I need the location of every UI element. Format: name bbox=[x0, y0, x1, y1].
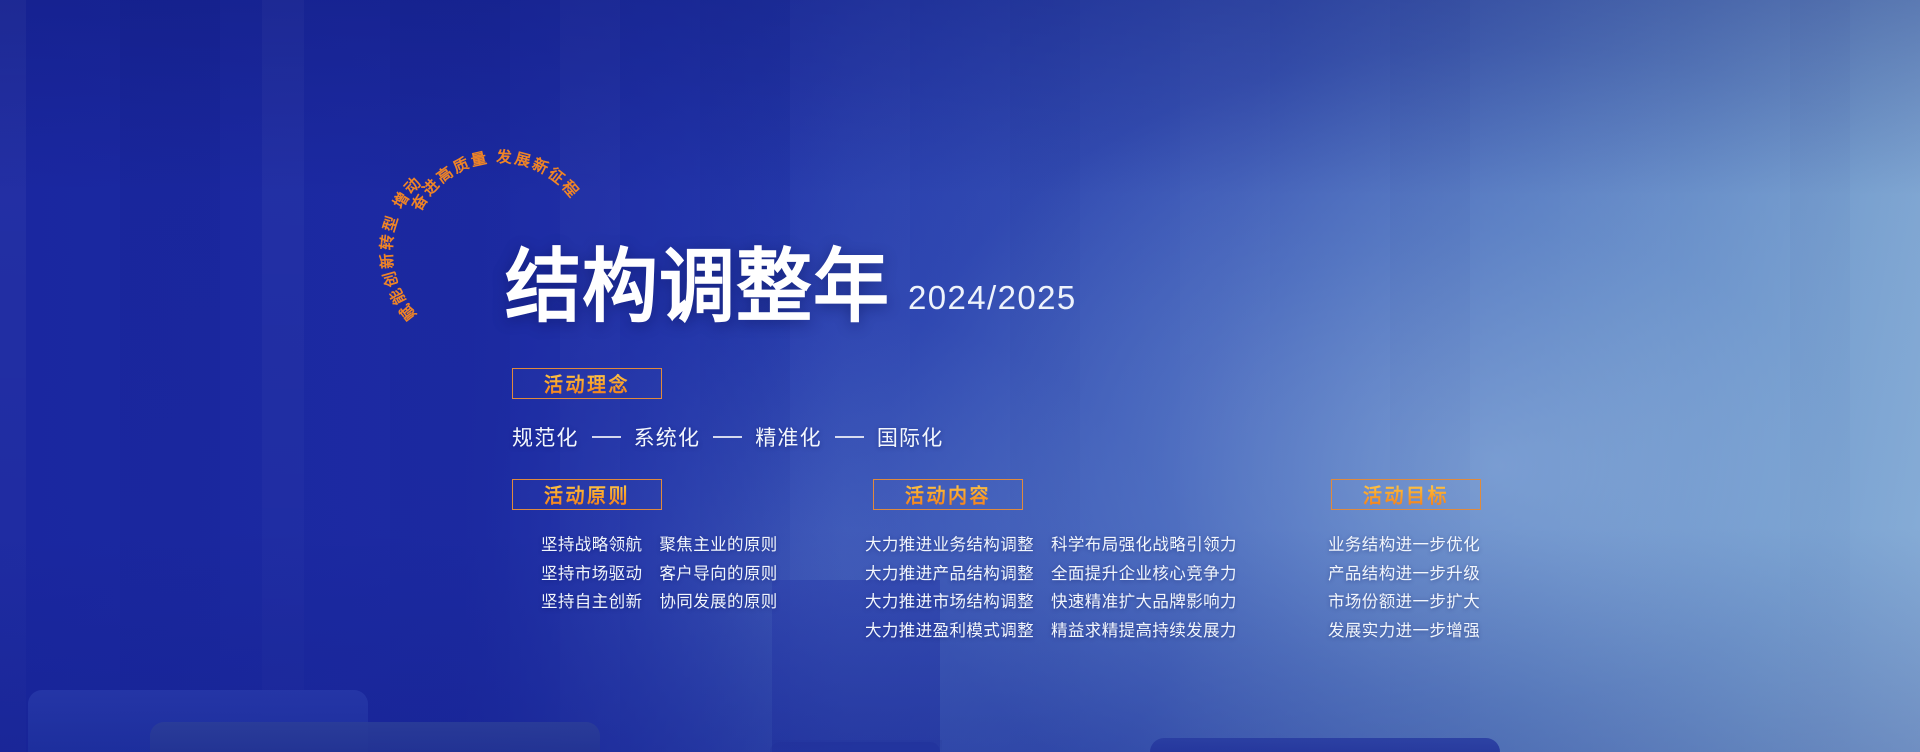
list-item: 发展实力进一步增强 bbox=[1328, 623, 1480, 640]
row-left: 大力推进盈利模式调整 bbox=[865, 623, 1034, 640]
list-item: 坚持战略领航 聚焦主业的原则 bbox=[541, 537, 778, 554]
row-left: 大力推进产品结构调整 bbox=[865, 566, 1034, 583]
column-contents: 大力推进业务结构调整 科学布局强化战略引领力 大力推进产品结构调整 全面提升企业… bbox=[865, 537, 1237, 651]
badge-label: 活动目标 bbox=[1363, 480, 1449, 508]
row-right: 快速精准扩大品牌影响力 bbox=[1051, 594, 1237, 611]
page-title: 结构调整年 bbox=[505, 248, 890, 326]
row-right: 精益求精提高持续发展力 bbox=[1051, 623, 1237, 640]
title-row: 结构调整年 2024/2025 bbox=[505, 252, 1077, 326]
badge-activity-principles: 活动原则 bbox=[512, 479, 662, 510]
title-year: 2024/2025 bbox=[908, 279, 1077, 326]
row-left: 坚持战略领航 bbox=[541, 537, 642, 554]
concept-separator-icon bbox=[592, 436, 621, 438]
badge-label: 活动原则 bbox=[544, 480, 630, 508]
list-item: 市场份额进一步扩大 bbox=[1328, 594, 1480, 611]
row-left: 发展实力进一步增强 bbox=[1328, 623, 1480, 640]
row-left: 业务结构进一步优化 bbox=[1328, 537, 1480, 554]
list-item: 大力推进业务结构调整 科学布局强化战略引领力 bbox=[865, 537, 1237, 554]
badge-activity-concept: 活动理念 bbox=[512, 368, 662, 399]
list-item: 大力推进市场结构调整 快速精准扩大品牌影响力 bbox=[865, 594, 1237, 611]
row-right: 客户导向的原则 bbox=[659, 566, 777, 583]
concept-keyword-list: 规范化 系统化 精准化 国际化 bbox=[512, 422, 943, 452]
concept-item-0: 规范化 bbox=[512, 422, 579, 452]
concept-item-2: 精准化 bbox=[755, 422, 822, 452]
ring-bottom-text: 赋能创新转型 增动能 bbox=[377, 113, 426, 324]
row-right: 全面提升企业核心竞争力 bbox=[1051, 566, 1237, 583]
list-item: 产品结构进一步升级 bbox=[1328, 566, 1480, 583]
list-item: 业务结构进一步优化 bbox=[1328, 537, 1480, 554]
row-right: 聚焦主业的原则 bbox=[659, 537, 777, 554]
list-item: 大力推进盈利模式调整 精益求精提高持续发展力 bbox=[865, 623, 1237, 640]
row-right: 科学布局强化战略引领力 bbox=[1051, 537, 1237, 554]
badge-label: 活动内容 bbox=[905, 480, 991, 508]
row-left: 市场份额进一步扩大 bbox=[1328, 594, 1480, 611]
row-left: 大力推进业务结构调整 bbox=[865, 537, 1034, 554]
badge-label: 活动理念 bbox=[544, 369, 630, 397]
row-left: 坚持自主创新 bbox=[541, 594, 642, 611]
ring-top-text: 奋进高质量 发展新征程 bbox=[407, 147, 583, 215]
concept-item-3: 国际化 bbox=[877, 422, 944, 452]
badge-activity-contents: 活动内容 bbox=[873, 479, 1023, 510]
concept-item-1: 系统化 bbox=[634, 422, 701, 452]
row-left: 坚持市场驱动 bbox=[541, 566, 642, 583]
list-item: 坚持自主创新 协同发展的原则 bbox=[541, 594, 778, 611]
list-item: 坚持市场驱动 客户导向的原则 bbox=[541, 566, 778, 583]
concept-separator-icon bbox=[713, 436, 742, 438]
column-goals: 业务结构进一步优化 产品结构进一步升级 市场份额进一步扩大 发展实力进一步增强 bbox=[1328, 537, 1480, 651]
row-left: 产品结构进一步升级 bbox=[1328, 566, 1480, 583]
badge-activity-goals: 活动目标 bbox=[1331, 479, 1481, 510]
row-left: 大力推进市场结构调整 bbox=[865, 594, 1034, 611]
row-right: 协同发展的原则 bbox=[659, 594, 777, 611]
concept-separator-icon bbox=[835, 436, 864, 438]
list-item: 大力推进产品结构调整 全面提升企业核心竞争力 bbox=[865, 566, 1237, 583]
column-principles: 坚持战略领航 聚焦主业的原则 坚持市场驱动 客户导向的原则 坚持自主创新 协同发… bbox=[541, 537, 778, 623]
